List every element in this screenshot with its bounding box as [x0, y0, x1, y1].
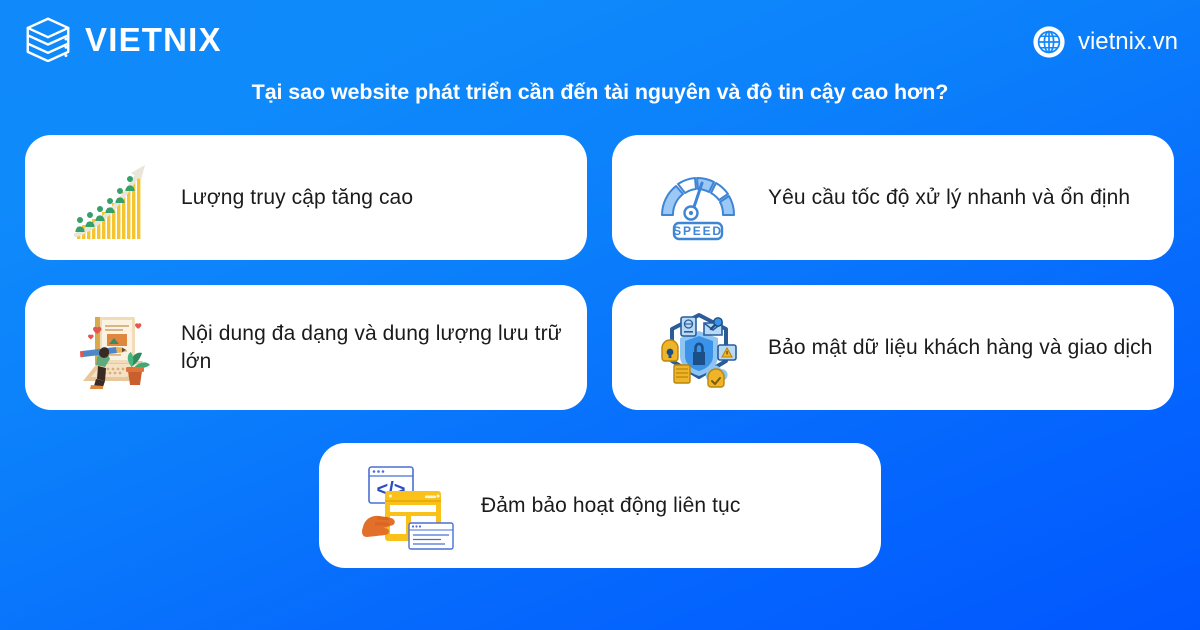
globe-icon — [1032, 25, 1066, 59]
page-title: Tại sao website phát triển cần đến tài n… — [0, 80, 1200, 105]
feature-card-label: Lượng truy cập tăng cao — [181, 184, 413, 212]
brand-name: VIETNIX — [85, 23, 222, 56]
speed-badge-text: SPEED — [673, 224, 723, 238]
feature-card[interactable]: SPEED Yêu cầu tốc độ xử lý nhanh và ổn đ… — [612, 135, 1174, 260]
page-header: VIETNIX vietnix.vn — [0, 0, 1200, 72]
security-shield-icon — [656, 303, 742, 393]
code-window-icon: </> — [355, 461, 455, 551]
feature-card-label: Nội dung đa dạng và dung lượng lưu trữ l… — [181, 320, 569, 375]
feature-card[interactable]: </> — [319, 443, 881, 568]
growth-chart-icon — [69, 153, 155, 243]
stacked-layers-logo-icon — [24, 16, 72, 62]
brand-logo-group[interactable]: VIETNIX — [24, 16, 222, 62]
feature-card-label: Đảm bảo hoạt động liên tục — [481, 492, 740, 520]
feature-card-label: Yêu cầu tốc độ xử lý nhanh và ổn định — [768, 184, 1130, 212]
feature-card[interactable]: Bảo mật dữ liệu khách hàng và giao dịch — [612, 285, 1174, 410]
speedometer-icon: SPEED — [656, 153, 742, 243]
site-url-text: vietnix.vn — [1078, 30, 1178, 54]
feature-card-grid: Lượng truy cập tăng cao SPEED Yêu cầu tố… — [25, 135, 1175, 568]
feature-card[interactable]: Nội dung đa dạng và dung lượng lưu trữ l… — [25, 285, 587, 410]
content-creation-icon — [69, 303, 155, 393]
feature-card[interactable]: Lượng truy cập tăng cao — [25, 135, 587, 260]
site-url-group[interactable]: vietnix.vn — [1032, 25, 1178, 59]
feature-card-label: Bảo mật dữ liệu khách hàng và giao dịch — [768, 334, 1153, 362]
